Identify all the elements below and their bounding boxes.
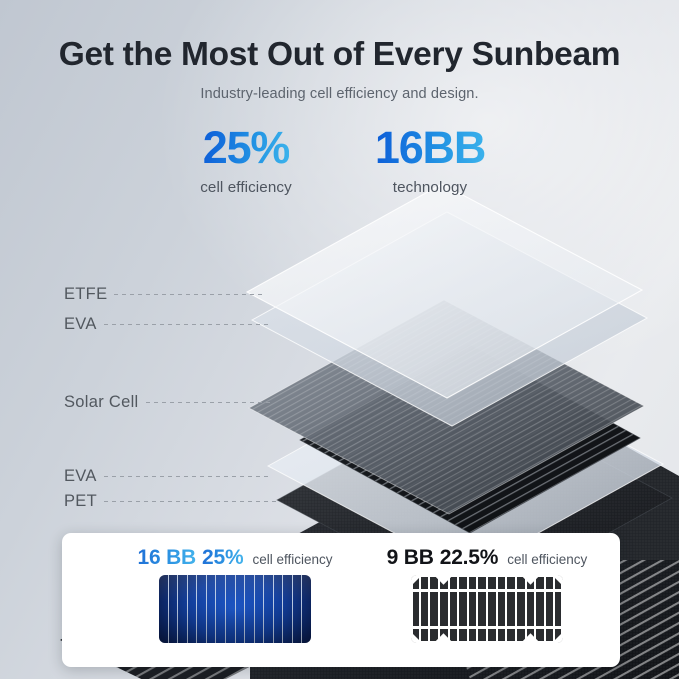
stat-value: 16BB: [375, 125, 485, 170]
page-title: Get the Most Out of Every Sunbeam: [0, 36, 679, 75]
layer-label-etfe: ETFE: [64, 285, 264, 304]
efficiency-value: 25%: [202, 546, 243, 570]
busbar-count: 9 BB: [387, 546, 434, 570]
leader-line: [104, 501, 276, 502]
leader-line: [146, 402, 274, 403]
cell-outline: [411, 575, 563, 643]
stat-value: 25%: [203, 125, 289, 170]
layer-etfe: [247, 184, 642, 398]
layer-label-solar-cell: Solar Cell: [64, 393, 274, 412]
efficiency-label: cell efficiency: [252, 552, 332, 567]
comparison-16bb: 16 BB 25% cell efficiency: [110, 533, 360, 667]
comparison-heading: 9 BB 22.5% cell efficiency: [362, 533, 612, 570]
layer-label-text: EVA: [64, 467, 97, 486]
comparison-9bb: 9 BB 22.5% cell efficiency: [362, 533, 612, 667]
infographic-canvas: Get the Most Out of Every Sunbeam Indust…: [0, 0, 679, 679]
leader-line: [104, 476, 272, 477]
efficiency-value: 22.5%: [440, 546, 499, 570]
layer-label-text: EVA: [64, 315, 97, 334]
stat-label: technology: [340, 179, 520, 196]
cell-gloss: [159, 575, 311, 643]
blue-16bb-cell-image: [159, 575, 311, 643]
leader-line: [114, 294, 264, 295]
leader-line: [104, 324, 272, 325]
efficiency-label: cell efficiency: [507, 552, 587, 567]
layer-label-eva-bottom: EVA: [64, 467, 272, 486]
busbar-count: 16 BB: [137, 546, 196, 570]
layer-label-text: PET: [64, 492, 97, 511]
stat-technology: 16BB technology: [340, 125, 520, 196]
stat-label: cell efficiency: [161, 179, 331, 196]
comparison-heading: 16 BB 25% cell efficiency: [110, 533, 360, 570]
comparison-card: 16 BB 25% cell efficiency: [62, 533, 620, 667]
layer-label-text: Solar Cell: [64, 393, 139, 412]
dark-9bb-cell-image: [411, 575, 563, 643]
layer-label-eva-top: EVA: [64, 315, 272, 334]
header: Get the Most Out of Every Sunbeam Indust…: [0, 36, 679, 102]
layer-label-pet: PET: [64, 492, 276, 511]
page-subtitle: Industry-leading cell efficiency and des…: [0, 86, 679, 102]
layer-label-text: ETFE: [64, 285, 107, 304]
stat-cell-efficiency: 25% cell efficiency: [161, 125, 331, 196]
